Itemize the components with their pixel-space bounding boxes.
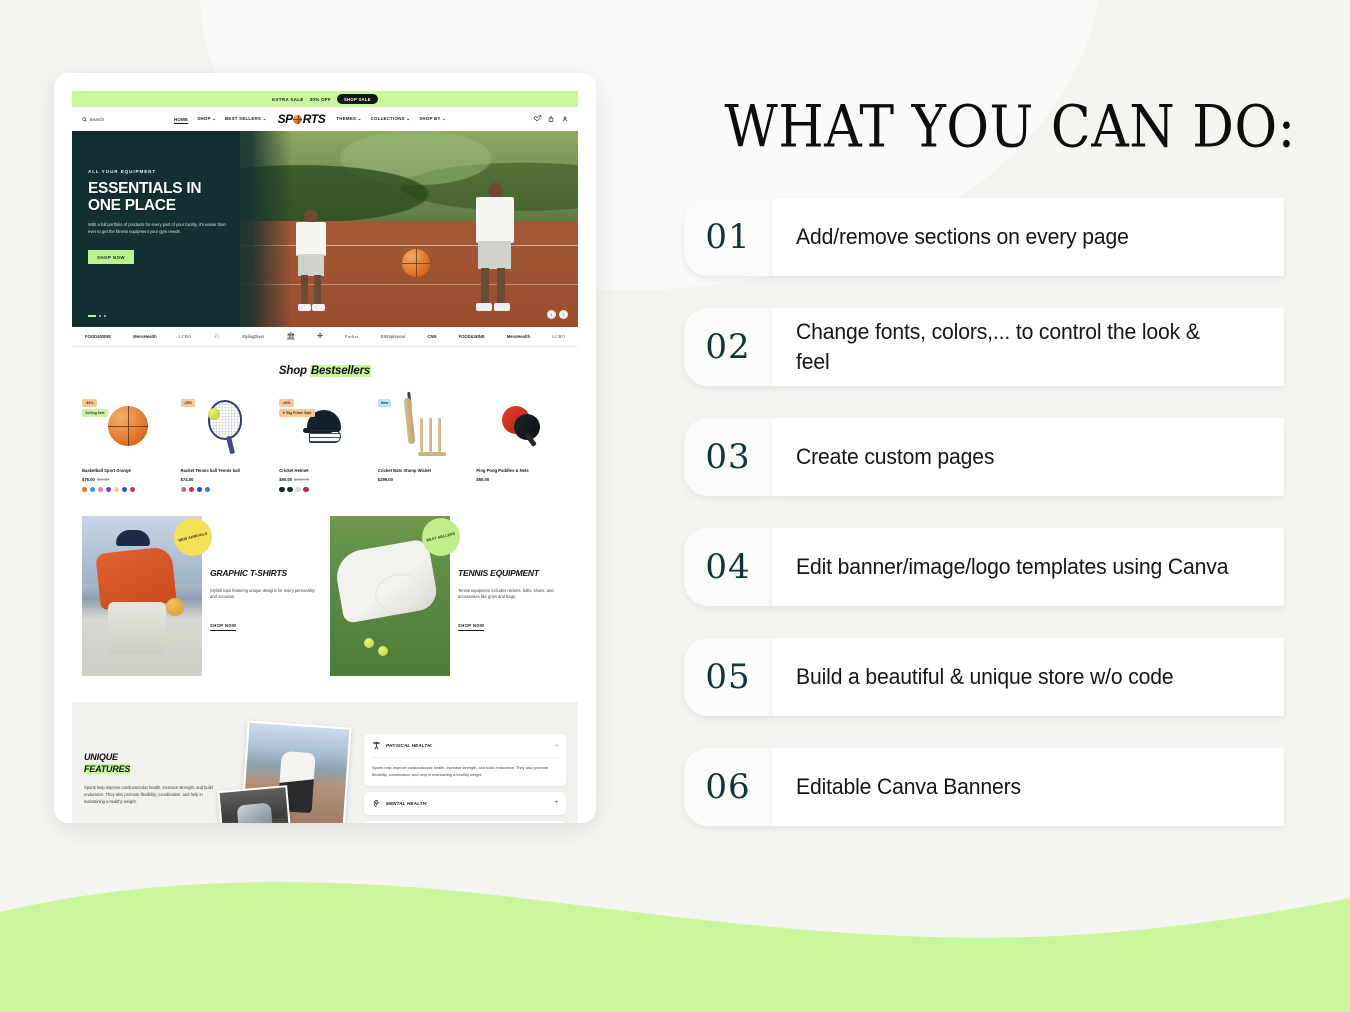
- color-swatches[interactable]: [279, 487, 371, 492]
- color-swatches[interactable]: [82, 487, 174, 492]
- promo-title: TENNIS EQUIPMENT: [458, 568, 568, 578]
- item-number: 05: [684, 638, 772, 716]
- carousel-dots[interactable]: [88, 315, 106, 317]
- accordion-item-mental-health[interactable]: MENTAL HEALTH: +: [364, 792, 566, 815]
- hero-basketball-icon: [402, 249, 430, 277]
- promo-shop-now-link[interactable]: SHOP NOW: [210, 623, 236, 631]
- hero-banner: ALL YOUR EQUIPMENT ESSENTIALS IN ONE PLA…: [72, 131, 578, 327]
- accordion-header[interactable]: MENTAL HEALTH: +: [372, 799, 558, 808]
- promo-body: NEW ARRIVALS GRAPHIC T-SHIRTS Stylish to…: [210, 516, 320, 676]
- accordion-group: PHYSICAL HEALTH: − Sports help improve c…: [364, 730, 566, 823]
- color-swatches[interactable]: [181, 487, 273, 492]
- list-item[interactable]: 05 Build a beautiful & unique store w/o …: [684, 638, 1284, 716]
- swatch[interactable]: [303, 487, 308, 492]
- list-item[interactable]: 01 Add/remove sections on every page: [684, 198, 1284, 276]
- item-number: 04: [684, 528, 772, 606]
- product-image: [378, 391, 470, 461]
- new-badge: New: [378, 399, 392, 407]
- product-old-price: $80.00: [97, 477, 110, 482]
- nav-item-shop[interactable]: SHOP ⌄: [197, 116, 216, 122]
- swatch[interactable]: [189, 487, 194, 492]
- swatch[interactable]: [130, 487, 135, 492]
- promo-card[interactable]: NEW ARRIVALS GRAPHIC T-SHIRTS Stylish to…: [82, 516, 320, 676]
- product-card[interactable]: New Cricket Bats Stump Wicket $299.00: [378, 391, 470, 492]
- chevron-right-icon[interactable]: ›: [559, 310, 568, 319]
- item-number: 02: [684, 308, 772, 386]
- swatch[interactable]: [287, 487, 292, 492]
- nav-icon-group: 2: [534, 116, 568, 122]
- nav-links-right: THEMES ⌄ COLLECTIONS ⌄ SHOP BY ⌄: [336, 116, 446, 122]
- title-highlight: FEATURES: [84, 764, 130, 774]
- accordion-label: PHYSICAL HEALTH:: [386, 743, 433, 748]
- tennis-racket-icon: [204, 398, 248, 454]
- item-label: Add/remove sections on every page: [796, 222, 1129, 252]
- accordion-label: MENTAL HEALTH:: [386, 801, 428, 806]
- brand-logo: StylingDiver: [231, 334, 275, 339]
- website-preview: EXTRA SALE 30% OFF SHOP SALE Search HOME…: [72, 91, 578, 823]
- wishlist-count: 2: [538, 115, 542, 119]
- search-icon: [82, 117, 87, 122]
- item-body[interactable]: Build a beautiful & unique store w/o cod…: [772, 638, 1284, 716]
- unique-features-title: UNIQUE FEATURES: [84, 752, 216, 775]
- product-name: Cricket Helmet: [279, 468, 371, 473]
- product-price: $299.00: [378, 477, 470, 482]
- hero-content: ALL YOUR EQUIPMENT ESSENTIALS IN ONE PLA…: [88, 169, 238, 264]
- nav-item-themes[interactable]: THEMES ⌄: [336, 116, 361, 122]
- item-body[interactable]: Add/remove sections on every page: [772, 198, 1284, 276]
- logo-text-pre: SP: [278, 112, 293, 126]
- brand-logo: MensHealth: [122, 334, 168, 339]
- product-name: Cricket Bats Stump Wicket: [378, 468, 470, 473]
- item-label: Create custom pages: [796, 442, 994, 472]
- carousel-dot[interactable]: [99, 315, 101, 317]
- brand-logo: CNN: [416, 334, 447, 339]
- nav-links-left: HOME SHOP ⌄ BEST SELLERS ⌄: [174, 116, 267, 122]
- shield-icon: ♘: [203, 333, 231, 340]
- promo-body: BEST SELLERS TENNIS EQUIPMENT Tennis equ…: [458, 516, 568, 676]
- product-price: $76.00$80.00: [82, 477, 174, 482]
- promo-shop-now-link[interactable]: SHOP NOW: [458, 623, 484, 631]
- product-card[interactable]: -32% Selling fast Basketball Sport Orang…: [82, 391, 174, 492]
- section-title-highlight: Bestsellers: [310, 365, 371, 377]
- unique-features-section: UNIQUE FEATURES Sports help improve card…: [72, 702, 578, 823]
- brain-icon: [372, 799, 381, 808]
- minus-icon[interactable]: −: [554, 743, 558, 749]
- product-badges: -32% Selling fast: [82, 391, 108, 419]
- discount-badge: -40%: [279, 399, 294, 407]
- product-price: $74.00: [181, 477, 273, 482]
- feature-list: 01 Add/remove sections on every page 02 …: [684, 198, 1284, 858]
- swatch[interactable]: [295, 487, 300, 492]
- account-icon[interactable]: [562, 116, 568, 122]
- product-badges: New: [378, 391, 392, 409]
- brand-logo-ticker: FOOD&WINE MensHealth LCBO ♘ StylingDiver…: [72, 327, 578, 347]
- hero-player-right: [466, 183, 524, 319]
- promo-card[interactable]: BEST SELLERS TENNIS EQUIPMENT Tennis equ…: [330, 516, 568, 676]
- swatch[interactable]: [122, 487, 127, 492]
- brand-logo: Forbes: [334, 334, 370, 339]
- carousel-arrows[interactable]: ‹ ›: [547, 310, 568, 319]
- hero-player-left: [290, 209, 336, 317]
- heart-icon[interactable]: 2: [534, 116, 540, 122]
- page-title: WHAT YOU CAN DO:: [680, 94, 1340, 161]
- plus-icon[interactable]: +: [554, 800, 558, 806]
- item-label: Build a beautiful & unique store w/o cod…: [796, 662, 1174, 692]
- bestsellers-section: Shop Bestsellers -32% Selling fast Baske…: [72, 347, 578, 492]
- nav-item-best-sellers[interactable]: BEST SELLERS ⌄: [225, 116, 267, 122]
- cricket-bat-stump-icon: [400, 396, 448, 456]
- product-card[interactable]: -25% Racket Tennis ball Tennis ball $74.…: [181, 391, 273, 492]
- unique-features-collage: [220, 730, 360, 823]
- bag-icon[interactable]: [548, 116, 554, 122]
- swatch[interactable]: [114, 487, 119, 492]
- swatch[interactable]: [181, 487, 186, 492]
- swatch[interactable]: [82, 487, 87, 492]
- site-logo[interactable]: SP RTS: [278, 112, 326, 126]
- announcement-bar: EXTRA SALE 30% OFF SHOP SALE: [72, 91, 578, 107]
- promo-description: Tennis equipment includes rackets, balls…: [458, 588, 568, 601]
- product-badges: -40% ✦ Big Prime Sale: [279, 391, 315, 419]
- product-price: $90.00$150.00: [279, 477, 371, 482]
- swatch[interactable]: [197, 487, 202, 492]
- swatch[interactable]: [279, 487, 284, 492]
- product-card[interactable]: -40% ✦ Big Prime Sale Cricket Helmet $90…: [279, 391, 371, 492]
- carousel-dot[interactable]: [104, 315, 106, 317]
- burst-icon: ❉: [306, 333, 334, 340]
- site-navbar: Search HOME SHOP ⌄ BEST SELLERS ⌄ SP RTS…: [72, 107, 578, 131]
- discount-badge: -32%: [82, 399, 97, 407]
- product-name: Basketball Sport Orange: [82, 468, 174, 473]
- section-title: Shop Bestsellers: [82, 365, 568, 377]
- hero-shop-now-button[interactable]: SHOP NOW: [88, 250, 134, 264]
- accordion-header[interactable]: PHYSICAL HEALTH: −: [372, 741, 558, 750]
- item-number: 01: [684, 198, 772, 276]
- product-badges: -25%: [181, 391, 196, 409]
- item-body[interactable]: Editable Canva Banners: [772, 748, 1284, 826]
- product-old-price: $150.00: [294, 477, 309, 482]
- accordion-item-social-skills[interactable]: SOCIAL SKILLS: +: [364, 821, 566, 823]
- shop-sale-button[interactable]: SHOP SALE: [337, 94, 378, 104]
- list-item[interactable]: 06 Editable Canva Banners: [684, 748, 1284, 826]
- brand-logo: FOOD&WINE: [448, 334, 496, 339]
- nav-item-shop-by[interactable]: SHOP BY ⌄: [419, 116, 446, 122]
- weightlifter-icon: [372, 741, 381, 750]
- item-label: Edit banner/image/logo templates using C…: [796, 552, 1228, 582]
- product-name: Ping Pong Paddles & Nets: [476, 468, 568, 473]
- bank-icon: 🏛: [275, 333, 306, 340]
- item-body[interactable]: Change fonts, colors,... to control the …: [772, 308, 1284, 386]
- promo-section: NEW ARRIVALS GRAPHIC T-SHIRTS Stylish to…: [72, 492, 578, 702]
- unique-features-description: Sports help improve cardiovascular healt…: [84, 785, 216, 806]
- list-item[interactable]: 03 Create custom pages: [684, 418, 1284, 496]
- accordion-item-physical-health[interactable]: PHYSICAL HEALTH: − Sports help improve c…: [364, 734, 566, 785]
- accordion-body: Sports help improve cardiovascular healt…: [372, 757, 558, 778]
- nav-item-collections[interactable]: COLLECTIONS ⌄: [371, 116, 411, 122]
- list-item[interactable]: 04 Edit banner/image/logo templates usin…: [684, 528, 1284, 606]
- website-mockup-frame: EXTRA SALE 30% OFF SHOP SALE Search HOME…: [54, 73, 596, 823]
- chevron-left-icon[interactable]: ‹: [547, 310, 556, 319]
- swatch[interactable]: [98, 487, 103, 492]
- item-number: 06: [684, 748, 772, 826]
- product-grid: -32% Selling fast Basketball Sport Orang…: [82, 391, 568, 492]
- brand-logo: Entrepreneur: [370, 334, 417, 339]
- item-label: Change fonts, colors,... to control the …: [796, 317, 1234, 376]
- announcement-discount: 30% OFF: [310, 97, 331, 102]
- product-card[interactable]: Ping Pong Paddles & Nets $50.00: [476, 391, 568, 492]
- nav-item-home[interactable]: HOME: [174, 117, 188, 122]
- swatch[interactable]: [90, 487, 95, 492]
- list-item[interactable]: 02 Change fonts, colors,... to control t…: [684, 308, 1284, 386]
- item-label: Editable Canva Banners: [796, 772, 1021, 802]
- item-body[interactable]: Create custom pages: [772, 418, 1284, 496]
- brand-logo: MensHealth: [496, 334, 542, 339]
- promo-title: GRAPHIC T-SHIRTS: [210, 568, 320, 578]
- brand-logo: LCBO: [541, 334, 576, 339]
- item-number: 03: [684, 418, 772, 496]
- basketball-icon: [293, 115, 302, 124]
- basketball-icon: [108, 406, 148, 446]
- brand-logo: LCBO: [168, 334, 203, 339]
- product-name: Racket Tennis ball Tennis ball: [181, 468, 273, 473]
- discount-badge: -25%: [181, 399, 196, 407]
- swatch[interactable]: [205, 487, 210, 492]
- item-body[interactable]: Edit banner/image/logo templates using C…: [772, 528, 1284, 606]
- logo-text-post: RTS: [303, 112, 326, 126]
- hero-subtitle: With a full portfolio of products for ev…: [88, 222, 228, 236]
- right-panel: WHAT YOU CAN DO: 01 Add/remove sections …: [676, 0, 1350, 1012]
- hero-title: ESSENTIALS IN ONE PLACE: [88, 180, 238, 214]
- promo-description: Stylish tops featuring unique designs fo…: [210, 588, 320, 601]
- ping-pong-paddle-icon: [498, 402, 546, 450]
- prime-sale-badge: ✦ Big Prime Sale: [279, 409, 315, 417]
- search-input[interactable]: Search: [82, 117, 174, 122]
- product-price: $50.00: [476, 477, 568, 482]
- selling-fast-badge: Selling fast: [82, 409, 108, 417]
- product-image: [476, 391, 568, 461]
- collage-photo-secondary: [217, 785, 292, 823]
- carousel-dot-active[interactable]: [88, 315, 96, 317]
- search-placeholder: Search: [90, 117, 105, 122]
- brand-logo: FOOD&WINE: [74, 334, 122, 339]
- swatch[interactable]: [106, 487, 111, 492]
- hero-kicker: ALL YOUR EQUIPMENT: [88, 169, 238, 174]
- unique-features-text: UNIQUE FEATURES Sports help improve card…: [84, 730, 216, 823]
- announcement-text: EXTRA SALE: [272, 97, 303, 102]
